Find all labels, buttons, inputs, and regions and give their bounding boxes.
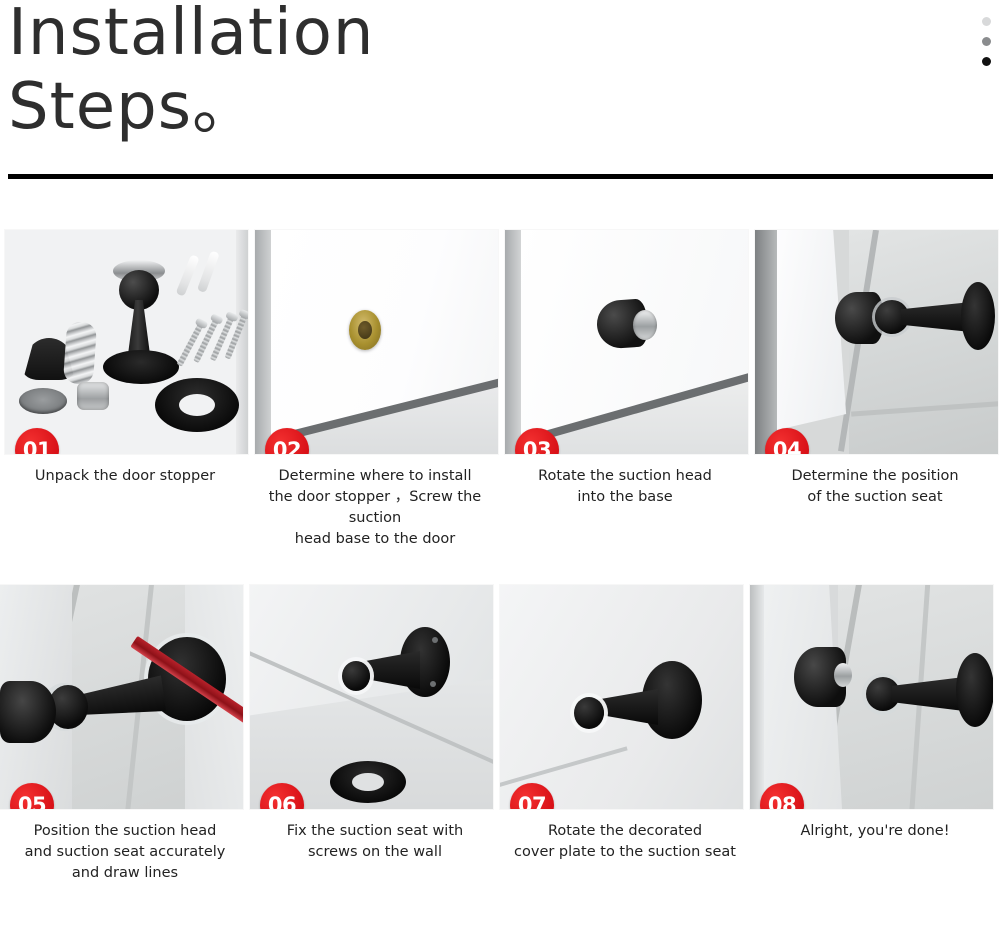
decorative-cover-ring [330,761,406,803]
step-caption-08: Alright, you're done! [750,821,1000,842]
wall-anchor-1 [176,254,200,296]
suction-seat-base [956,653,993,727]
magnet-joint [342,661,370,691]
wall-edge [505,230,521,454]
title-divider-rule [8,174,993,179]
scene-parts-layout [5,230,248,454]
mounting-screw-bottom [430,681,436,687]
magnet-joint [574,697,604,729]
pager-dots[interactable] [978,17,994,66]
step-photo-07[interactable]: 07 [500,585,743,809]
page-header: Installation Steps。 [0,0,1001,182]
stopper-base-plate [103,350,179,384]
step-card-04: 04 Determine the position of the suction… [750,230,1000,585]
step-caption-03: Rotate the suction head into the base [500,466,750,508]
scene-cover-plate-installed [500,585,743,809]
page-title: Installation Steps。 [8,0,808,144]
metal-washer-part [19,388,67,414]
suction-head-chrome-tip [834,663,852,687]
suction-seat-base [961,282,995,350]
scene-finished-installation [750,585,993,809]
step-card-03: 03 Rotate the suction head into the base [500,230,750,585]
step-caption-04: Determine the position of the suction se… [750,466,1000,508]
scene-suction-head-in-base [505,230,748,454]
cover-ring-part [155,378,239,432]
scene-door-with-brass-base [255,230,498,454]
step-photo-01[interactable]: 01 [5,230,248,454]
wall-anchor-2 [197,250,220,293]
step-photo-08[interactable]: 08 [750,585,993,809]
wall-edge [755,230,777,454]
step-photo-03[interactable]: 03 [505,230,748,454]
step-card-08: 08 Alright, you're done! [750,585,1000,940]
scene-pencil-marking [0,585,243,809]
step-card-06: 06 Fix the suction seat with screws on t… [250,585,500,940]
pager-dot-1[interactable] [982,17,991,26]
door-stopper-assembly [105,258,175,378]
step-card-05: 05 Position the suction head and suction… [0,585,250,940]
spring-part [63,321,97,385]
step-caption-05: Position the suction head and suction se… [0,821,250,884]
step-card-07: 07 Rotate the decorated cover plate to t… [500,585,750,940]
step-photo-04[interactable]: 04 [755,230,998,454]
step-photo-02[interactable]: 02 [255,230,498,454]
suction-head [0,681,56,743]
step-photo-06[interactable]: 06 [250,585,493,809]
door-edge [750,585,764,809]
background-edge [236,230,248,454]
pager-dot-2[interactable] [982,37,991,46]
step-caption-02: Determine where to install the door stop… [250,466,500,550]
scene-seat-screwed-to-wall [250,585,493,809]
step-photo-05[interactable]: 05 [0,585,243,809]
chrome-nut-part [77,382,109,410]
wall-edge [255,230,271,454]
brass-suction-head-base [349,310,381,350]
step-caption-01: Unpack the door stopper [0,466,250,487]
suction-head-chrome-tip [633,310,657,340]
step-caption-06: Fix the suction seat with screws on the … [250,821,500,863]
pager-dot-3[interactable] [982,57,991,66]
installation-steps-grid: 01 Unpack the door stopper 02 Determine … [0,230,1001,940]
step-caption-07: Rotate the decorated cover plate to the … [500,821,750,863]
step-card-01: 01 Unpack the door stopper [0,230,250,585]
mounting-screw-top [432,637,438,643]
step-card-02: 02 Determine where to install the door s… [250,230,500,585]
scene-position-suction-seat [755,230,998,454]
